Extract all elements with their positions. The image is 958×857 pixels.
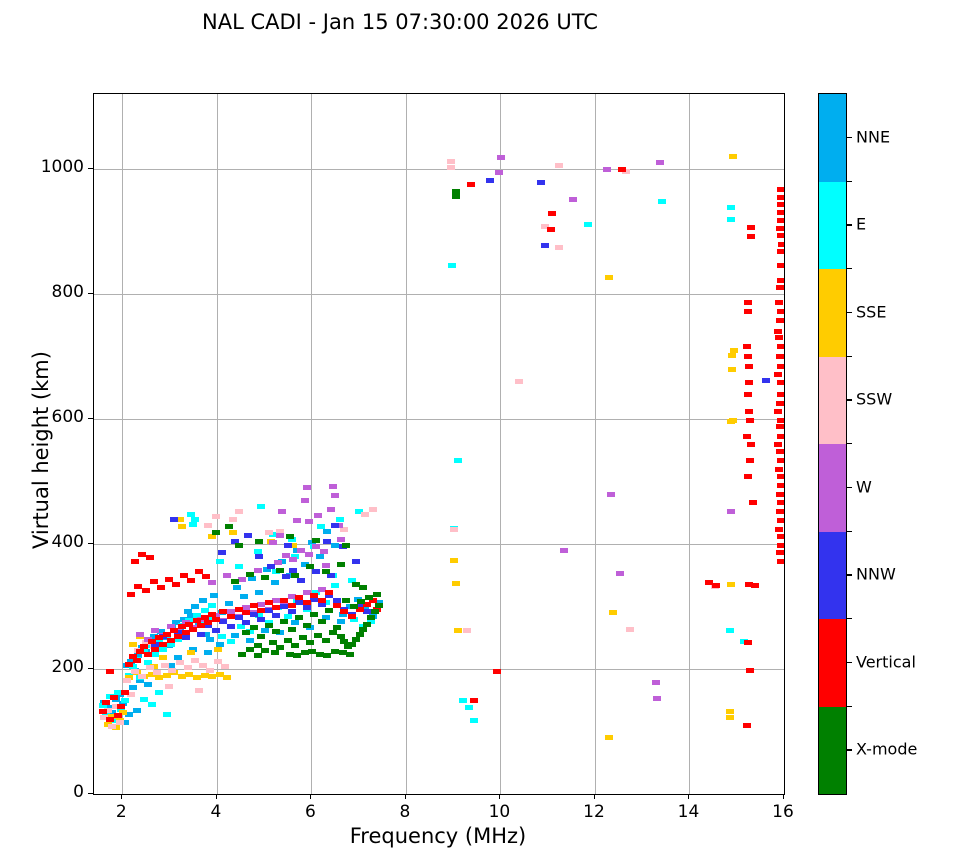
- data-point: [297, 578, 305, 583]
- data-point: [116, 720, 124, 725]
- data-point: [569, 197, 577, 202]
- colorbar-boundary-tick: [847, 181, 852, 182]
- data-point: [775, 467, 783, 472]
- data-point: [322, 638, 330, 643]
- data-point: [537, 180, 545, 185]
- data-point: [327, 507, 335, 512]
- data-point: [272, 605, 280, 610]
- data-point: [163, 712, 171, 717]
- data-point: [342, 598, 350, 603]
- colorbar-label-e: E: [856, 215, 866, 234]
- data-point: [195, 688, 203, 693]
- data-point: [350, 604, 358, 609]
- data-point: [189, 522, 197, 527]
- data-point: [293, 518, 301, 523]
- data-point: [148, 702, 156, 707]
- colorbar-segment-nne[interactable]: [819, 94, 846, 182]
- colorbar-tick: [847, 399, 852, 400]
- data-point: [316, 554, 324, 559]
- data-point: [323, 529, 331, 534]
- data-point: [168, 668, 176, 673]
- data-point: [99, 709, 107, 714]
- colorbar-boundary-tick: [847, 443, 852, 444]
- data-point: [127, 592, 135, 597]
- x-axis-label: Frequency (MHz): [93, 824, 783, 848]
- data-point: [212, 617, 220, 622]
- colorbar-boundary-tick: [847, 268, 852, 269]
- x-tick: [499, 794, 500, 799]
- data-point: [776, 550, 784, 555]
- colorbar-label-sse: SSE: [856, 302, 886, 321]
- data-point: [329, 484, 337, 489]
- data-point: [336, 517, 344, 522]
- colorbar-segment-sse[interactable]: [819, 269, 846, 357]
- data-point: [333, 603, 341, 608]
- data-point: [223, 573, 231, 578]
- y-tick: [88, 668, 93, 669]
- data-point: [291, 620, 299, 625]
- data-point: [745, 380, 753, 385]
- data-point: [114, 713, 122, 718]
- data-point: [452, 581, 460, 586]
- data-point: [159, 655, 167, 660]
- data-point: [106, 669, 114, 674]
- data-point: [776, 401, 784, 406]
- data-point: [310, 612, 318, 617]
- data-point: [777, 534, 785, 539]
- x-tick: [783, 794, 784, 799]
- data-point: [331, 523, 339, 528]
- data-point: [121, 698, 129, 703]
- gridline-vertical: [784, 94, 785, 794]
- colorbar-tick: [847, 224, 852, 225]
- colorbar-tick: [847, 662, 852, 663]
- data-point: [288, 603, 296, 608]
- x-tick-label: 4: [186, 802, 246, 822]
- x-tick: [594, 794, 595, 799]
- data-point: [776, 449, 784, 454]
- x-tick: [121, 794, 122, 799]
- data-point: [206, 668, 214, 673]
- data-point: [187, 578, 195, 583]
- data-point: [777, 364, 785, 369]
- data-point: [746, 458, 754, 463]
- data-point: [238, 577, 246, 582]
- data-point: [325, 608, 333, 613]
- data-point: [210, 593, 218, 598]
- colorbar-label-x-mode: X-mode: [856, 740, 917, 759]
- data-point: [278, 509, 286, 514]
- data-point: [777, 309, 785, 314]
- colorbar-boundary-tick: [847, 356, 852, 357]
- data-point: [121, 690, 129, 695]
- colorbar-segment-ssw[interactable]: [819, 357, 846, 445]
- data-point: [244, 533, 252, 538]
- colorbar-tick: [847, 137, 852, 138]
- data-point: [208, 580, 216, 585]
- data-point: [726, 715, 734, 720]
- data-point: [231, 633, 239, 638]
- data-point: [361, 512, 369, 517]
- data-point: [777, 218, 785, 223]
- data-point: [777, 500, 785, 505]
- data-point: [325, 590, 333, 595]
- data-point: [603, 167, 611, 172]
- data-point: [231, 579, 239, 584]
- data-point: [218, 550, 226, 555]
- colorbar-boundary-tick: [847, 706, 852, 707]
- y-tick: [88, 793, 93, 794]
- data-point: [776, 492, 784, 497]
- y-tick-label: 0: [14, 782, 84, 802]
- data-point: [140, 644, 148, 649]
- data-point: [242, 610, 250, 615]
- x-tick: [405, 794, 406, 799]
- data-point: [272, 629, 280, 634]
- data-point: [746, 418, 754, 423]
- data-point: [560, 548, 568, 553]
- data-point: [729, 154, 737, 159]
- x-tick: [688, 794, 689, 799]
- colorbar-segment-w[interactable]: [819, 444, 846, 532]
- data-point: [150, 579, 158, 584]
- data-point: [257, 608, 265, 613]
- data-point: [331, 493, 339, 498]
- data-point: [727, 509, 735, 514]
- data-point: [497, 155, 505, 160]
- data-point: [303, 605, 311, 610]
- data-point: [274, 560, 282, 565]
- data-point: [102, 700, 110, 705]
- data-point: [331, 583, 339, 588]
- data-point: [751, 583, 759, 588]
- data-point: [727, 205, 735, 210]
- y-tick: [88, 543, 93, 544]
- data-point: [352, 559, 360, 564]
- colorbar-segment-x-mode[interactable]: [819, 707, 846, 795]
- data-point: [776, 354, 784, 359]
- data-point: [762, 378, 770, 383]
- data-point: [348, 614, 356, 619]
- data-point: [743, 344, 751, 349]
- data-point: [777, 518, 785, 523]
- data-point: [254, 653, 262, 658]
- colorbar-label-w: W: [856, 477, 872, 496]
- data-point: [146, 555, 154, 560]
- y-tick-label: 200: [14, 657, 84, 677]
- data-point: [131, 559, 139, 564]
- data-point: [774, 372, 782, 377]
- data-point: [329, 630, 337, 635]
- data-point: [470, 698, 478, 703]
- data-point: [248, 576, 256, 581]
- data-point: [743, 434, 751, 439]
- data-point: [777, 187, 785, 192]
- x-tick-label: 2: [91, 802, 151, 822]
- data-point: [470, 718, 478, 723]
- data-point: [276, 533, 284, 538]
- data-point: [227, 614, 235, 619]
- y-tick-label: 1000: [14, 157, 84, 177]
- data-point: [728, 353, 736, 358]
- data-point: [289, 557, 297, 562]
- data-point: [746, 668, 754, 673]
- data-point: [777, 474, 785, 479]
- data-point: [727, 582, 735, 587]
- data-point: [227, 639, 235, 644]
- data-point: [322, 563, 330, 568]
- data-point: [555, 245, 563, 250]
- data-point: [129, 685, 137, 690]
- data-point: [777, 392, 785, 397]
- data-point: [288, 627, 296, 632]
- data-point: [265, 623, 273, 628]
- data-point: [284, 543, 292, 548]
- data-point: [609, 610, 617, 615]
- data-point: [191, 517, 199, 522]
- data-point: [218, 634, 226, 639]
- data-point: [271, 580, 279, 585]
- data-point: [269, 540, 277, 545]
- data-point: [199, 598, 207, 603]
- data-point: [486, 178, 494, 183]
- data-point: [774, 329, 782, 334]
- data-point: [280, 619, 288, 624]
- data-point: [618, 167, 626, 172]
- data-point: [743, 723, 751, 728]
- colorbar-segment-nnw[interactable]: [819, 532, 846, 620]
- data-point: [272, 613, 280, 618]
- data-point: [257, 617, 265, 622]
- data-point: [208, 603, 216, 608]
- data-point: [214, 647, 222, 652]
- data-point: [728, 367, 736, 372]
- data-point: [235, 543, 243, 548]
- data-point: [744, 392, 752, 397]
- data-point: [295, 615, 303, 620]
- data-point: [359, 585, 367, 590]
- data-point: [191, 604, 199, 609]
- data-point: [320, 549, 328, 554]
- data-point: [346, 652, 354, 657]
- data-point: [233, 585, 241, 590]
- data-point: [626, 627, 634, 632]
- data-point: [747, 442, 755, 447]
- data-point: [238, 652, 246, 657]
- data-point: [246, 572, 254, 577]
- data-point: [777, 418, 785, 423]
- data-point: [204, 523, 212, 528]
- data-point: [257, 504, 265, 509]
- data-point: [202, 574, 210, 579]
- data-point: [463, 628, 471, 633]
- data-point: [142, 588, 150, 593]
- colorbar-segment-e[interactable]: [819, 182, 846, 270]
- data-point: [727, 217, 735, 222]
- data-point: [267, 564, 275, 569]
- data-point: [373, 592, 381, 597]
- data-point: [221, 664, 229, 669]
- data-point: [777, 344, 785, 349]
- data-point: [777, 458, 785, 463]
- data-point: [744, 309, 752, 314]
- data-point: [607, 492, 615, 497]
- colorbar-tick: [847, 574, 852, 575]
- data-point: [317, 524, 325, 529]
- data-point: [212, 530, 220, 535]
- data-point: [282, 574, 290, 579]
- data-point: [255, 539, 263, 544]
- data-point: [206, 637, 214, 642]
- data-point: [212, 628, 220, 633]
- data-point: [204, 650, 212, 655]
- x-tick-label: 14: [658, 802, 718, 822]
- data-point: [235, 564, 243, 569]
- data-point: [744, 300, 752, 305]
- x-tick-label: 6: [280, 802, 340, 822]
- data-point: [777, 195, 785, 200]
- data-point: [776, 318, 784, 323]
- data-point: [777, 434, 785, 439]
- data-point: [729, 418, 737, 423]
- data-point: [730, 348, 738, 353]
- data-point: [777, 278, 785, 283]
- data-layer: [94, 94, 784, 794]
- data-point: [159, 647, 167, 652]
- data-point: [342, 543, 350, 548]
- data-point: [182, 635, 190, 640]
- data-point: [369, 507, 377, 512]
- data-point: [242, 630, 250, 635]
- data-point: [235, 509, 243, 514]
- colorbar-label-nne: NNE: [856, 127, 890, 146]
- data-point: [255, 554, 263, 559]
- data-point: [255, 590, 263, 595]
- data-point: [129, 642, 137, 647]
- x-tick: [310, 794, 311, 799]
- data-point: [745, 409, 753, 414]
- data-point: [367, 615, 375, 620]
- data-point: [448, 263, 456, 268]
- data-point: [261, 575, 269, 580]
- data-point: [165, 684, 173, 689]
- data-point: [656, 160, 664, 165]
- data-point: [312, 569, 320, 574]
- data-point: [318, 619, 326, 624]
- data-point: [305, 552, 313, 557]
- data-point: [375, 603, 383, 608]
- data-point: [306, 564, 314, 569]
- data-point: [777, 233, 785, 238]
- data-point: [312, 538, 320, 543]
- colorbar-label-nnw: NNW: [856, 565, 896, 584]
- data-point: [229, 530, 237, 535]
- colorbar-boundary-tick: [847, 531, 852, 532]
- data-point: [467, 182, 475, 187]
- data-point: [305, 519, 313, 524]
- data-point: [261, 648, 269, 653]
- data-point: [337, 537, 345, 542]
- data-point: [288, 609, 296, 614]
- data-point: [777, 543, 785, 548]
- data-point: [363, 622, 371, 627]
- data-point: [223, 675, 231, 680]
- data-point: [197, 632, 205, 637]
- data-point: [778, 242, 785, 247]
- data-point: [240, 594, 248, 599]
- data-point: [257, 634, 265, 639]
- data-point: [306, 640, 314, 645]
- x-tick-label: 16: [753, 802, 813, 822]
- data-point: [170, 517, 178, 522]
- data-point: [261, 628, 269, 633]
- data-point: [371, 609, 379, 614]
- page-title: NAL CADI - Jan 15 07:30:00 2026 UTC: [0, 10, 800, 34]
- data-point: [515, 379, 523, 384]
- data-point: [144, 652, 152, 657]
- data-point: [178, 524, 186, 529]
- data-point: [744, 640, 752, 645]
- data-point: [276, 568, 284, 573]
- data-point: [776, 226, 784, 231]
- data-point: [184, 665, 192, 670]
- colorbar-tick: [847, 487, 852, 488]
- data-point: [726, 709, 734, 714]
- data-point: [777, 559, 785, 564]
- data-point: [303, 600, 311, 605]
- data-point: [447, 159, 455, 164]
- colorbar-segment-vertical[interactable]: [819, 619, 846, 707]
- y-tick: [88, 293, 93, 294]
- plot-area[interactable]: [93, 93, 785, 795]
- data-point: [322, 569, 330, 574]
- data-point: [227, 624, 235, 629]
- data-point: [495, 170, 503, 175]
- data-point: [658, 199, 666, 204]
- data-point: [271, 650, 279, 655]
- data-point: [774, 409, 782, 414]
- data-point: [447, 165, 455, 170]
- data-point: [225, 524, 233, 529]
- data-point: [744, 354, 752, 359]
- data-point: [265, 530, 273, 535]
- x-tick-label: 8: [375, 802, 435, 822]
- data-point: [541, 243, 549, 248]
- colorbar[interactable]: [818, 93, 847, 795]
- data-point: [584, 222, 592, 227]
- data-point: [465, 705, 473, 710]
- data-point: [616, 571, 624, 576]
- data-point: [229, 517, 237, 522]
- data-point: [157, 585, 165, 590]
- data-point: [123, 678, 131, 683]
- data-point: [745, 364, 753, 369]
- data-point: [747, 234, 755, 239]
- data-point: [133, 658, 141, 663]
- colorbar-tick: [847, 749, 852, 750]
- data-point: [459, 698, 467, 703]
- data-point: [454, 628, 462, 633]
- data-point: [775, 335, 783, 340]
- data-point: [286, 534, 294, 539]
- data-point: [450, 558, 458, 563]
- data-point: [138, 674, 146, 679]
- data-point: [301, 650, 309, 655]
- data-point: [225, 601, 233, 606]
- y-axis-label: Virtual height (km): [29, 240, 53, 660]
- colorbar-tick: [847, 312, 852, 313]
- colorbar-label-ssw: SSW: [856, 390, 892, 409]
